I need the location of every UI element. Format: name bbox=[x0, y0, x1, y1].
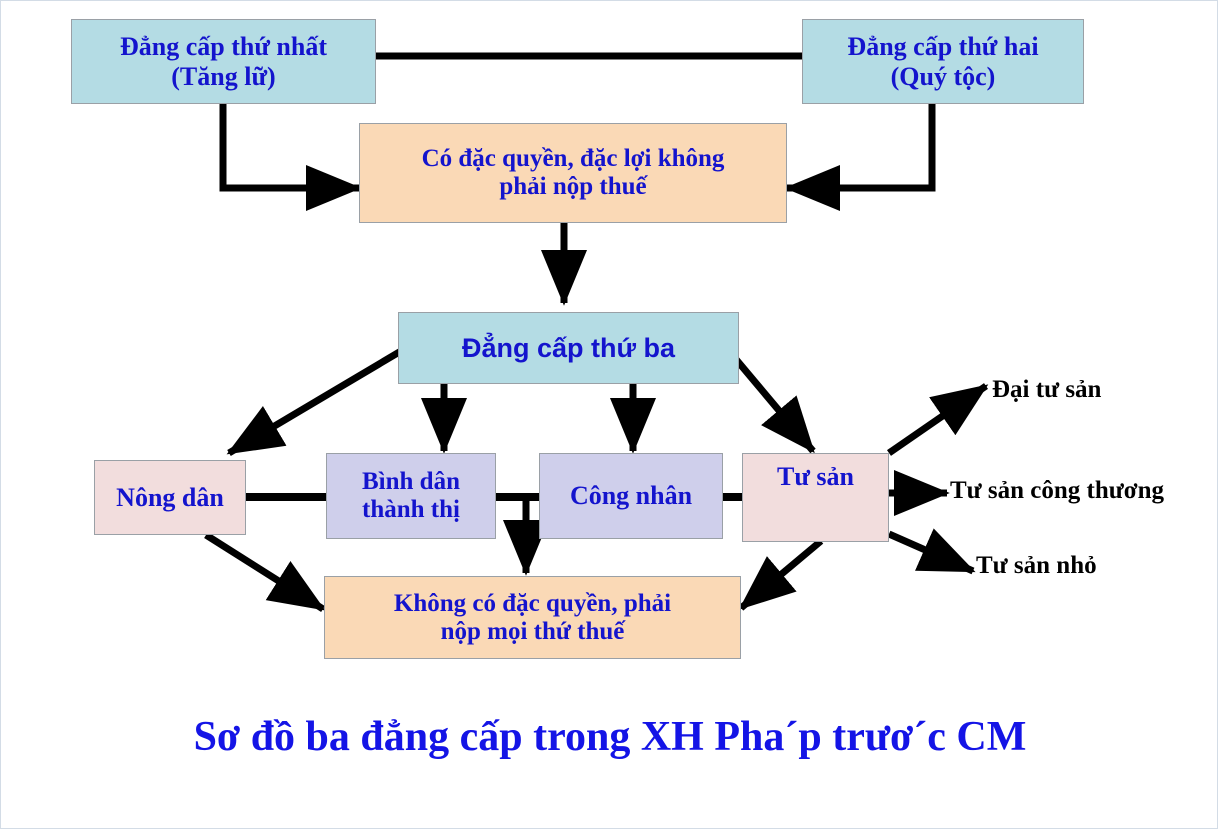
label-commercial-bourgeoisie: Tư sản công thương bbox=[950, 477, 1164, 505]
connector-peasants-to-no-privileges bbox=[206, 535, 323, 609]
node-privileges-line2: phải nộp thuế bbox=[422, 173, 725, 201]
node-estate-first-line2: (Tăng lữ) bbox=[120, 62, 327, 91]
node-no-privileges-line1: Không có đặc quyền, phải bbox=[394, 590, 671, 618]
node-workers-line1: Công nhân bbox=[570, 481, 692, 510]
node-estate-second-line2: (Quý tộc) bbox=[847, 62, 1038, 91]
node-no-privileges[interactable]: Không có đặc quyền, phải nộp mọi thứ thu… bbox=[324, 576, 741, 659]
connector-second-to-privileges bbox=[787, 104, 932, 188]
node-estate-third-line1: Đẳng cấp thứ ba bbox=[462, 333, 675, 363]
connector-bourgeoisie-to-big bbox=[889, 386, 986, 453]
node-peasants-line1: Nông dân bbox=[116, 483, 224, 512]
node-estate-third[interactable]: Đẳng cấp thứ ba bbox=[398, 312, 739, 384]
node-estate-first-line1: Đẳng cấp thứ nhất bbox=[120, 32, 327, 61]
connector-third-to-bourgeoisie bbox=[729, 351, 813, 451]
node-estate-second[interactable]: Đẳng cấp thứ hai (Quý tộc) bbox=[802, 19, 1084, 104]
node-no-privileges-line2: nộp mọi thứ thuế bbox=[394, 618, 671, 646]
label-petty-bourgeoisie: Tư sản nhỏ bbox=[976, 552, 1097, 580]
node-urban-commoners-line2: thành thị bbox=[362, 496, 460, 524]
slide-canvas: Đẳng cấp thứ nhất (Tăng lữ) Đẳng cấp thứ… bbox=[0, 0, 1218, 829]
node-estate-second-line1: Đẳng cấp thứ hai bbox=[847, 32, 1038, 61]
node-urban-commoners[interactable]: Bình dân thành thị bbox=[326, 453, 496, 539]
node-bourgeoisie-line1: Tư sản bbox=[777, 462, 854, 491]
node-urban-commoners-line1: Bình dân bbox=[362, 468, 460, 496]
node-workers[interactable]: Công nhân bbox=[539, 453, 723, 539]
connector-third-to-peasants bbox=[229, 351, 401, 453]
node-peasants[interactable]: Nông dân bbox=[94, 460, 246, 535]
node-bourgeoisie[interactable]: Tư sản bbox=[742, 453, 889, 542]
node-estate-first[interactable]: Đẳng cấp thứ nhất (Tăng lữ) bbox=[71, 19, 376, 104]
node-privileges-line1: Có đặc quyền, đặc lợi không bbox=[422, 145, 725, 173]
connector-first-to-privileges bbox=[223, 104, 359, 188]
label-big-bourgeoisie: Đại tư sản bbox=[992, 376, 1101, 404]
connector-bourgeoisie-to-no-privileges bbox=[741, 541, 821, 608]
node-privileges[interactable]: Có đặc quyền, đặc lợi không phải nộp thu… bbox=[359, 123, 787, 223]
connector-bourgeoisie-to-petty bbox=[889, 534, 973, 571]
slide-title: Sơ đồ ba đẳng cấp trong XH Pha´p trươ´c … bbox=[1, 713, 1218, 761]
